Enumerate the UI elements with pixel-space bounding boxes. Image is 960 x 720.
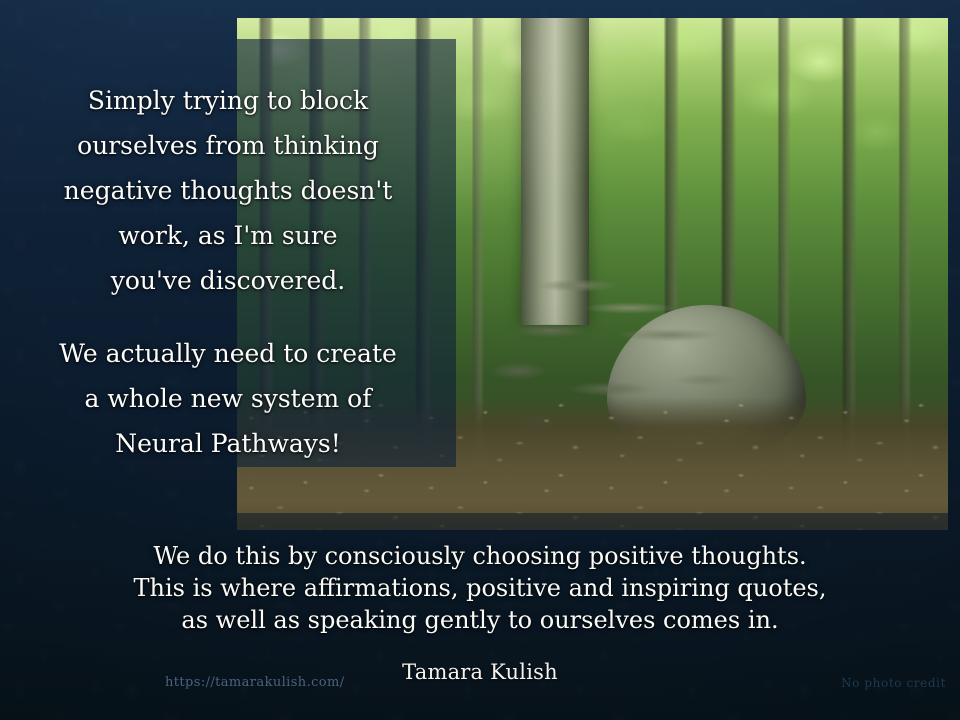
quote-line: negative thoughts doesn't — [0, 168, 456, 213]
quote-line: you've discovered. — [0, 258, 456, 303]
photo-lower-scrim — [237, 513, 948, 530]
quote-line: We actually need to create — [0, 331, 456, 376]
quote-line: ourselves from thinking — [0, 123, 456, 168]
quote-paragraph-2: We actually need to create a whole new s… — [0, 331, 456, 466]
quote-line: Neural Pathways! — [0, 421, 456, 466]
quote-line: a whole new system of — [0, 376, 456, 421]
photo-credit-label: No photo credit — [841, 676, 946, 690]
closing-line: We do this by consciously choosing posit… — [0, 540, 960, 572]
quote-text-block: Simply trying to block ourselves from th… — [0, 78, 456, 466]
quote-line: work, as I'm sure — [0, 213, 456, 258]
author-name: Tamara Kulish — [0, 660, 960, 684]
site-url-link[interactable]: https://tamarakulish.com/ — [165, 675, 345, 690]
closing-line: This is where affirmations, positive and… — [0, 572, 960, 604]
quote-slide: Simply trying to block ourselves from th… — [0, 0, 960, 720]
quote-line: Simply trying to block — [0, 78, 456, 123]
closing-text-block: We do this by consciously choosing posit… — [0, 540, 960, 636]
quote-paragraph-1: Simply trying to block ourselves from th… — [0, 78, 456, 303]
closing-line: as well as speaking gently to ourselves … — [0, 604, 960, 636]
